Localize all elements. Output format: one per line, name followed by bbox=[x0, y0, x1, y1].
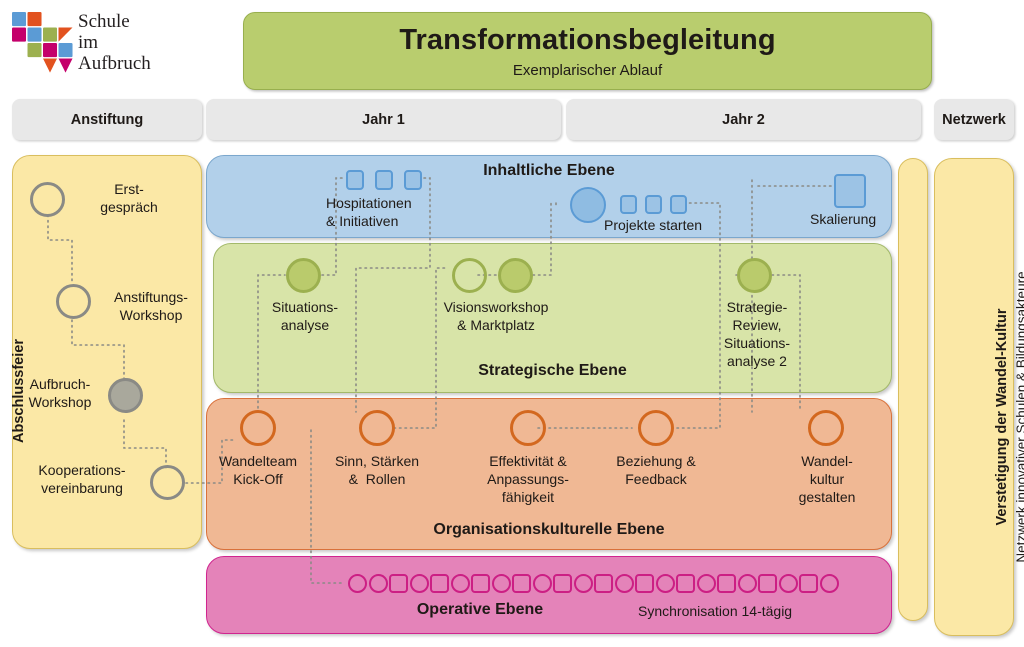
operative-rhythm-sequence bbox=[348, 570, 858, 596]
operative-marker-square-7[interactable] bbox=[471, 574, 490, 593]
label-wandelteam-kickoff: WandelteamKick-Off bbox=[206, 452, 310, 488]
label-wandelkultur-gestalten: Wandel-kulturgestalten bbox=[782, 452, 872, 506]
operative-marker-circle-22[interactable] bbox=[779, 574, 798, 593]
label-netzwerk-main: Verstetigung der Wandel-Kultur bbox=[992, 207, 1012, 627]
caption-inhaltliche-ebene: Inhaltliche Ebene bbox=[206, 162, 892, 180]
marker-marktplatz[interactable] bbox=[498, 258, 533, 293]
operative-marker-square-5[interactable] bbox=[430, 574, 449, 593]
operative-marker-circle-8[interactable] bbox=[492, 574, 511, 593]
marker-beziehung-feedback[interactable] bbox=[638, 410, 674, 446]
operative-marker-circle-10[interactable] bbox=[533, 574, 552, 593]
marker-wandelkultur-gestalten[interactable] bbox=[808, 410, 844, 446]
label-kooperationsvereinbarung: Kooperations-vereinbarung bbox=[16, 461, 148, 497]
marker-skalierung[interactable] bbox=[834, 174, 866, 208]
operative-marker-square-17[interactable] bbox=[676, 574, 695, 593]
caption-operative-ebene: Operative Ebene bbox=[280, 601, 680, 619]
marker-erstgespraech[interactable] bbox=[30, 182, 65, 217]
marker-projekt-2[interactable] bbox=[645, 195, 662, 214]
label-skalierung: Skalierung bbox=[810, 210, 900, 228]
operative-marker-circle-1[interactable] bbox=[348, 574, 367, 593]
operative-marker-circle-24[interactable] bbox=[820, 574, 839, 593]
label-hospitationen-initiativen: Hospitationen& Initiativen bbox=[326, 194, 446, 230]
marker-hospitation-3[interactable] bbox=[404, 170, 422, 190]
label-anstiftungs-workshop: Anstiftungs-Workshop bbox=[96, 288, 206, 324]
label-abschlussfeier: Abschlussfeier bbox=[11, 271, 27, 511]
label-visionsworkshop-marktplatz: Visionsworkshop& Marktplatz bbox=[426, 298, 566, 334]
marker-effektivitaet-anpassungsfaehigkeit[interactable] bbox=[510, 410, 546, 446]
operative-marker-square-23[interactable] bbox=[799, 574, 818, 593]
marker-anstiftungs-workshop[interactable] bbox=[56, 284, 91, 319]
marker-sinn-staerken-rollen[interactable] bbox=[359, 410, 395, 446]
label-netzwerk-block: Verstetigung der Wandel-Kultur Netzwerk … bbox=[992, 207, 1024, 627]
marker-kooperationsvereinbarung[interactable] bbox=[150, 465, 185, 500]
marker-hospitation-1[interactable] bbox=[346, 170, 364, 190]
operative-marker-square-19[interactable] bbox=[717, 574, 736, 593]
operative-marker-circle-20[interactable] bbox=[738, 574, 757, 593]
operative-marker-circle-16[interactable] bbox=[656, 574, 675, 593]
marker-wandelteam-kickoff[interactable] bbox=[240, 410, 276, 446]
operative-marker-circle-2[interactable] bbox=[369, 574, 388, 593]
label-beziehung-feedback: Beziehung &Feedback bbox=[600, 452, 712, 488]
operative-marker-square-15[interactable] bbox=[635, 574, 654, 593]
operative-marker-circle-14[interactable] bbox=[615, 574, 634, 593]
label-situationsanalyse: Situations-analyse bbox=[252, 298, 358, 334]
label-sinn-staerken-rollen: Sinn, Stärken& Rollen bbox=[322, 452, 432, 488]
label-projekte-starten: Projekte starten bbox=[604, 216, 734, 234]
operative-marker-circle-18[interactable] bbox=[697, 574, 716, 593]
marker-strategie-review[interactable] bbox=[737, 258, 772, 293]
operative-marker-square-21[interactable] bbox=[758, 574, 777, 593]
operative-marker-circle-4[interactable] bbox=[410, 574, 429, 593]
label-effektivitaet-anpassungsfaehigkeit: Effektivität &Anpassungs-fähigkeit bbox=[468, 452, 588, 506]
label-strategie-review: Strategie-Review,Situations-analyse 2 bbox=[712, 298, 802, 370]
operative-marker-circle-12[interactable] bbox=[574, 574, 593, 593]
operative-marker-square-9[interactable] bbox=[512, 574, 531, 593]
operative-marker-square-3[interactable] bbox=[389, 574, 408, 593]
marker-projekte-starten-main[interactable] bbox=[570, 187, 606, 223]
marker-situationsanalyse[interactable] bbox=[286, 258, 321, 293]
marker-hospitation-2[interactable] bbox=[375, 170, 393, 190]
marker-projekt-1[interactable] bbox=[620, 195, 637, 214]
caption-organisationskulturelle-ebene: Organisationskulturelle Ebene bbox=[206, 521, 892, 539]
marker-visionsworkshop[interactable] bbox=[452, 258, 487, 293]
operative-marker-circle-6[interactable] bbox=[451, 574, 470, 593]
label-erstgespraech: Erst-gespräch bbox=[74, 180, 184, 216]
marker-projekt-3[interactable] bbox=[670, 195, 687, 214]
label-netzwerk-sub: Netzwerk innovativer Schulen & Bildungsa… bbox=[1012, 207, 1024, 627]
marker-aufbruch-workshop[interactable] bbox=[108, 378, 143, 413]
operative-marker-square-13[interactable] bbox=[594, 574, 613, 593]
label-synchronisation: Synchronisation 14-tägig bbox=[638, 603, 868, 619]
operative-marker-square-11[interactable] bbox=[553, 574, 572, 593]
